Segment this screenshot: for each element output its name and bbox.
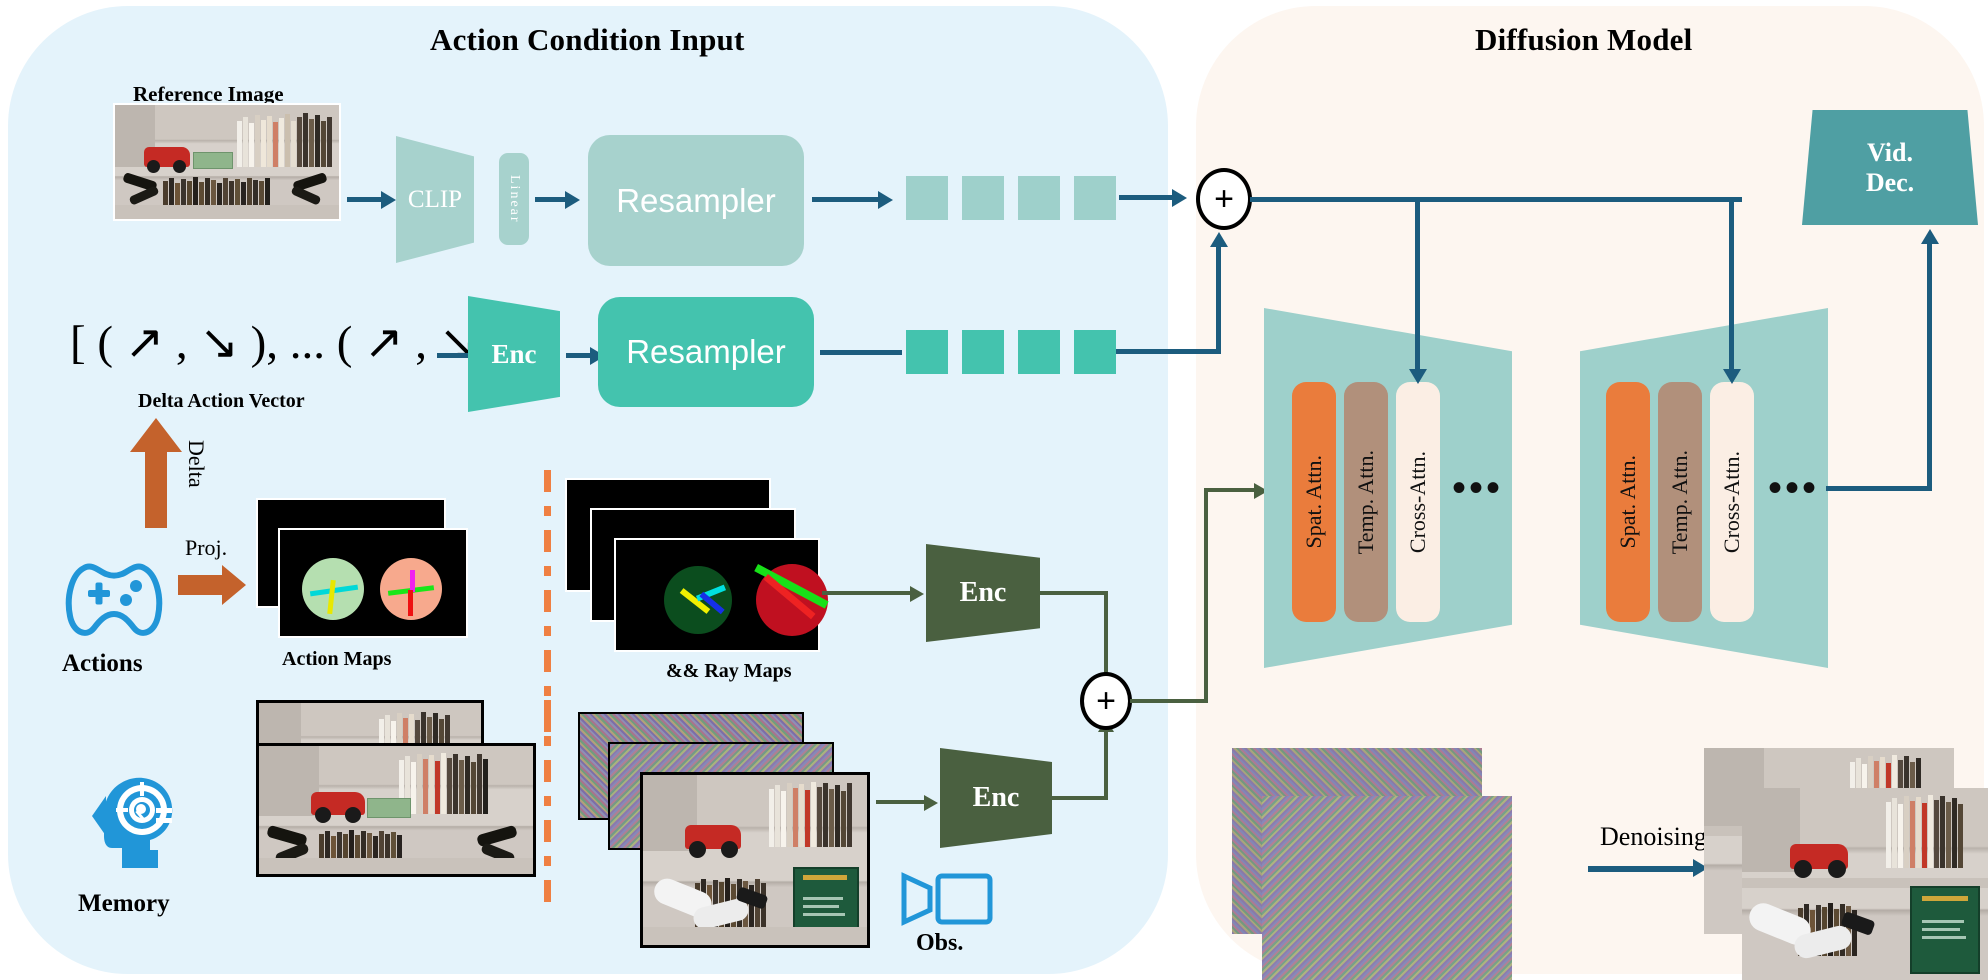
action-token-route-v xyxy=(1216,246,1221,353)
reference-image-photo xyxy=(113,103,341,221)
denoise-output-frame-front xyxy=(1742,788,1988,980)
memory-photo-front xyxy=(256,743,536,877)
cond-branch-2-v xyxy=(1729,197,1734,369)
vid-dec-line1: Vid. xyxy=(1867,138,1913,168)
sum-to-unet-v xyxy=(1204,490,1208,702)
raymaps-encoder-block[interactable]: Enc xyxy=(926,544,1040,642)
delta-arrow xyxy=(130,418,182,533)
cond-branch-2-head xyxy=(1723,369,1741,384)
arrow-obs-to-enc-head xyxy=(924,795,938,811)
denoising-arrow-line xyxy=(1588,866,1693,872)
arrow-resampler-top-out-head xyxy=(878,191,893,209)
obs-encoder-block[interactable]: Enc xyxy=(940,748,1052,848)
action-token-route-h xyxy=(1116,349,1221,354)
image-token-3 xyxy=(1074,176,1116,220)
image-token-1 xyxy=(962,176,1004,220)
cross-attn-block-2[interactable]: Cross-Attn. xyxy=(1710,382,1754,622)
linear-block[interactable]: Linear xyxy=(499,153,529,245)
diagram-canvas: Action Condition Input Diffusion Model R… xyxy=(0,0,1988,980)
action-token-route-head xyxy=(1210,232,1228,247)
arrow-linear-to-resampler-head xyxy=(565,191,580,209)
action-token-1 xyxy=(962,330,1004,374)
delta-arrow-label: Delta xyxy=(183,440,209,488)
gamepad-icon xyxy=(62,562,167,647)
arrow-linear-to-resampler-line xyxy=(535,197,565,202)
video-decoder-block[interactable]: Vid. Dec. xyxy=(1802,110,1978,225)
resampler-action-block[interactable]: Resampler xyxy=(598,297,814,407)
clip-label: CLIP xyxy=(408,186,462,214)
panel-title-action-condition-input: Action Condition Input xyxy=(430,22,745,58)
unet-out-v xyxy=(1927,243,1932,491)
clip-encoder-block[interactable]: CLIP xyxy=(396,136,474,263)
plus-symbol-bottom: + xyxy=(1096,684,1116,718)
arrow-tokens-to-plus-head xyxy=(1172,189,1187,207)
arrow-vector-to-enc-line xyxy=(437,353,473,358)
temp-attn-block-2[interactable]: Temp. Attn. xyxy=(1658,382,1702,622)
memory-label: Memory xyxy=(78,890,170,918)
denoise-input-frame-front xyxy=(1262,796,1512,980)
cross-attn-block-1[interactable]: Cross-Attn. xyxy=(1396,382,1440,622)
unet-out-head xyxy=(1921,229,1939,244)
image-token-0 xyxy=(906,176,948,220)
arrow-resampler-top-out-line xyxy=(812,197,878,202)
arrow-ref-to-clip-head xyxy=(381,191,396,209)
plus-symbol: + xyxy=(1214,182,1234,216)
linear-label: Linear xyxy=(506,175,522,224)
conditioning-sum-node: + xyxy=(1196,168,1252,230)
unet-ellipsis-2: ••• xyxy=(1768,468,1819,508)
arrow-obs-to-enc-line xyxy=(876,800,924,804)
obs-route-h xyxy=(1052,796,1108,800)
action-encoder-block[interactable]: Enc xyxy=(468,296,560,412)
denoising-label: Denoising xyxy=(1600,822,1707,852)
resampler-action-label: Resampler xyxy=(626,333,786,371)
resampler-image-label: Resampler xyxy=(616,182,776,220)
latent-sum-node: + xyxy=(1080,672,1132,730)
sum-to-unet-h2 xyxy=(1204,488,1254,492)
cond-bus-main xyxy=(1250,197,1742,202)
camera-icon xyxy=(900,870,996,933)
arrow-ref-to-clip-line xyxy=(347,197,381,202)
vid-dec-line2: Dec. xyxy=(1866,168,1914,198)
panel-title-diffusion-model: Diffusion Model xyxy=(1475,22,1692,58)
dash-divider-top xyxy=(540,470,554,732)
action-map-frame-front xyxy=(278,528,468,638)
delta-action-vector-expression: [ ( ↗ , ↘ ), ... ( ↗ , ↘ )] xyxy=(70,320,521,367)
cond-branch-1-v xyxy=(1415,197,1420,369)
spat-attn-label-1: Spat. Attn. xyxy=(1301,455,1327,549)
obs-photo-front xyxy=(640,772,870,948)
spat-attn-block-1[interactable]: Spat. Attn. xyxy=(1292,382,1336,622)
action-token-0 xyxy=(906,330,948,374)
cond-branch-1-head xyxy=(1409,369,1427,384)
enc-raymaps-label: Enc xyxy=(960,577,1007,609)
actions-label: Actions xyxy=(62,650,143,678)
raymaps-route-h xyxy=(1040,591,1108,595)
arrow-raymaps-to-enc-line xyxy=(822,591,910,595)
unet-out-h xyxy=(1826,486,1932,491)
cross-attn-label-1: Cross-Attn. xyxy=(1405,451,1431,553)
enc-obs-label: Enc xyxy=(973,782,1020,814)
arrow-raymaps-to-enc-head xyxy=(910,586,924,602)
cross-attn-label-2: Cross-Attn. xyxy=(1719,451,1745,553)
raymaps-route-v xyxy=(1104,591,1108,675)
delta-action-vector-label: Delta Action Vector xyxy=(138,390,305,413)
temp-attn-label-2: Temp. Attn. xyxy=(1667,450,1693,554)
unet-ellipsis-1: ••• xyxy=(1452,468,1503,508)
brain-memory-icon xyxy=(88,770,176,873)
enc-action-label: Enc xyxy=(491,339,536,370)
obs-route-v xyxy=(1104,732,1108,800)
action-token-3 xyxy=(1074,330,1116,374)
proj-arrow xyxy=(178,565,246,610)
ray-maps-label: && Ray Maps xyxy=(666,660,792,683)
resampler-image-block[interactable]: Resampler xyxy=(588,135,804,266)
sum-to-unet-h1 xyxy=(1130,699,1208,703)
action-token-2 xyxy=(1018,330,1060,374)
image-token-2 xyxy=(1018,176,1060,220)
spat-attn-label-2: Spat. Attn. xyxy=(1615,455,1641,549)
spat-attn-block-2[interactable]: Spat. Attn. xyxy=(1606,382,1650,622)
ray-map-frame-front xyxy=(614,538,820,652)
proj-label: Proj. xyxy=(185,535,227,561)
obs-label: Obs. xyxy=(916,930,963,957)
dash-divider-bottom xyxy=(540,700,554,902)
temp-attn-block-1[interactable]: Temp. Attn. xyxy=(1344,382,1388,622)
action-maps-label: Action Maps xyxy=(282,648,391,671)
arrow-resampler-bottom-out-line xyxy=(820,350,902,355)
temp-attn-label-1: Temp. Attn. xyxy=(1353,450,1379,554)
arrow-enc-to-resampler2-line xyxy=(566,353,590,358)
arrow-tokens-to-plus-line xyxy=(1119,195,1172,200)
